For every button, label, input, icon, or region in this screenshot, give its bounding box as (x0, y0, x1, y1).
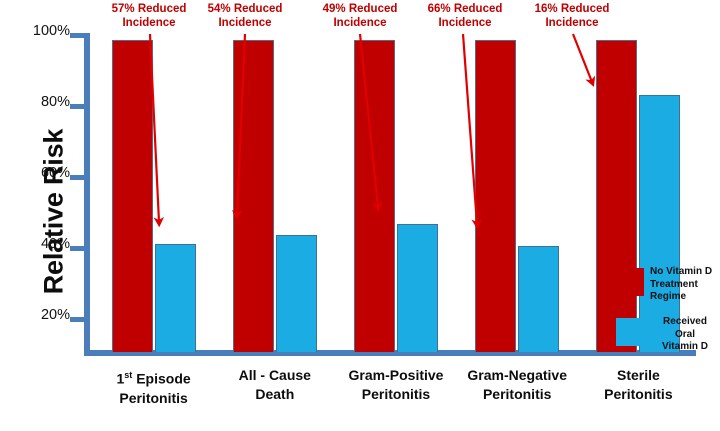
chart-canvas: Relative Risk 100%80%60%40%20% 57% Reduc… (0, 0, 720, 431)
bar-no-vitamin-d (475, 40, 516, 352)
legend-label: No Vitamin DTreatmentRegime (650, 266, 720, 304)
y-tick-label: 60% (24, 165, 70, 181)
annotation-line-1: 66% Reduced (405, 2, 525, 16)
annotation-label: 49% ReducedIncidence (300, 2, 420, 30)
legend: No Vitamin DTreatmentRegimeReceivedOralV… (616, 266, 720, 366)
annotation-label: 16% ReducedIncidence (512, 2, 632, 30)
legend-item: ReceivedOralVitamin D (616, 316, 720, 354)
x-category-line-1: Sterile (563, 366, 713, 385)
y-tick-label: 80% (24, 94, 70, 110)
annotation-line-2: Incidence (185, 16, 305, 30)
legend-label-line-1: Received (650, 316, 720, 329)
annotation-label: 54% ReducedIncidence (185, 2, 305, 30)
legend-label-line-1: No Vitamin D (650, 266, 720, 279)
bar-no-vitamin-d (112, 40, 153, 352)
annotation-line-1: 49% Reduced (300, 2, 420, 16)
bar-received-vitamin-d (518, 246, 559, 352)
annotation-line-2: Incidence (300, 16, 420, 30)
plot-area (90, 33, 696, 352)
bar-no-vitamin-d (233, 40, 274, 352)
legend-label-line-2: Oral (650, 329, 720, 342)
legend-label-line-2: Treatment (650, 279, 720, 292)
bar-no-vitamin-d (354, 40, 395, 352)
annotation-line-2: Incidence (512, 16, 632, 30)
annotation-line-1: 16% Reduced (512, 2, 632, 16)
x-category-label: SterilePeritonitis (563, 366, 713, 404)
legend-label: ReceivedOralVitamin D (650, 316, 720, 354)
ordinal-suffix: st (124, 370, 132, 380)
annotation-line-2: Incidence (405, 16, 525, 30)
bar-received-vitamin-d (276, 235, 317, 352)
legend-label-line-3: Regime (650, 291, 720, 304)
legend-item: No Vitamin DTreatmentRegime (616, 266, 720, 304)
y-tick-label: 100% (24, 23, 70, 39)
y-tick-label: 40% (24, 236, 70, 252)
bar-received-vitamin-d (397, 224, 438, 352)
y-tick-label: 20% (24, 307, 70, 323)
bar-received-vitamin-d (155, 244, 196, 352)
legend-label-line-3: Vitamin D (650, 341, 720, 354)
x-category-line-2: Peritonitis (563, 385, 713, 404)
annotation-line-1: 54% Reduced (185, 2, 305, 16)
annotation-label: 66% ReducedIncidence (405, 2, 525, 30)
legend-swatch (616, 318, 644, 346)
legend-swatch (616, 268, 644, 296)
